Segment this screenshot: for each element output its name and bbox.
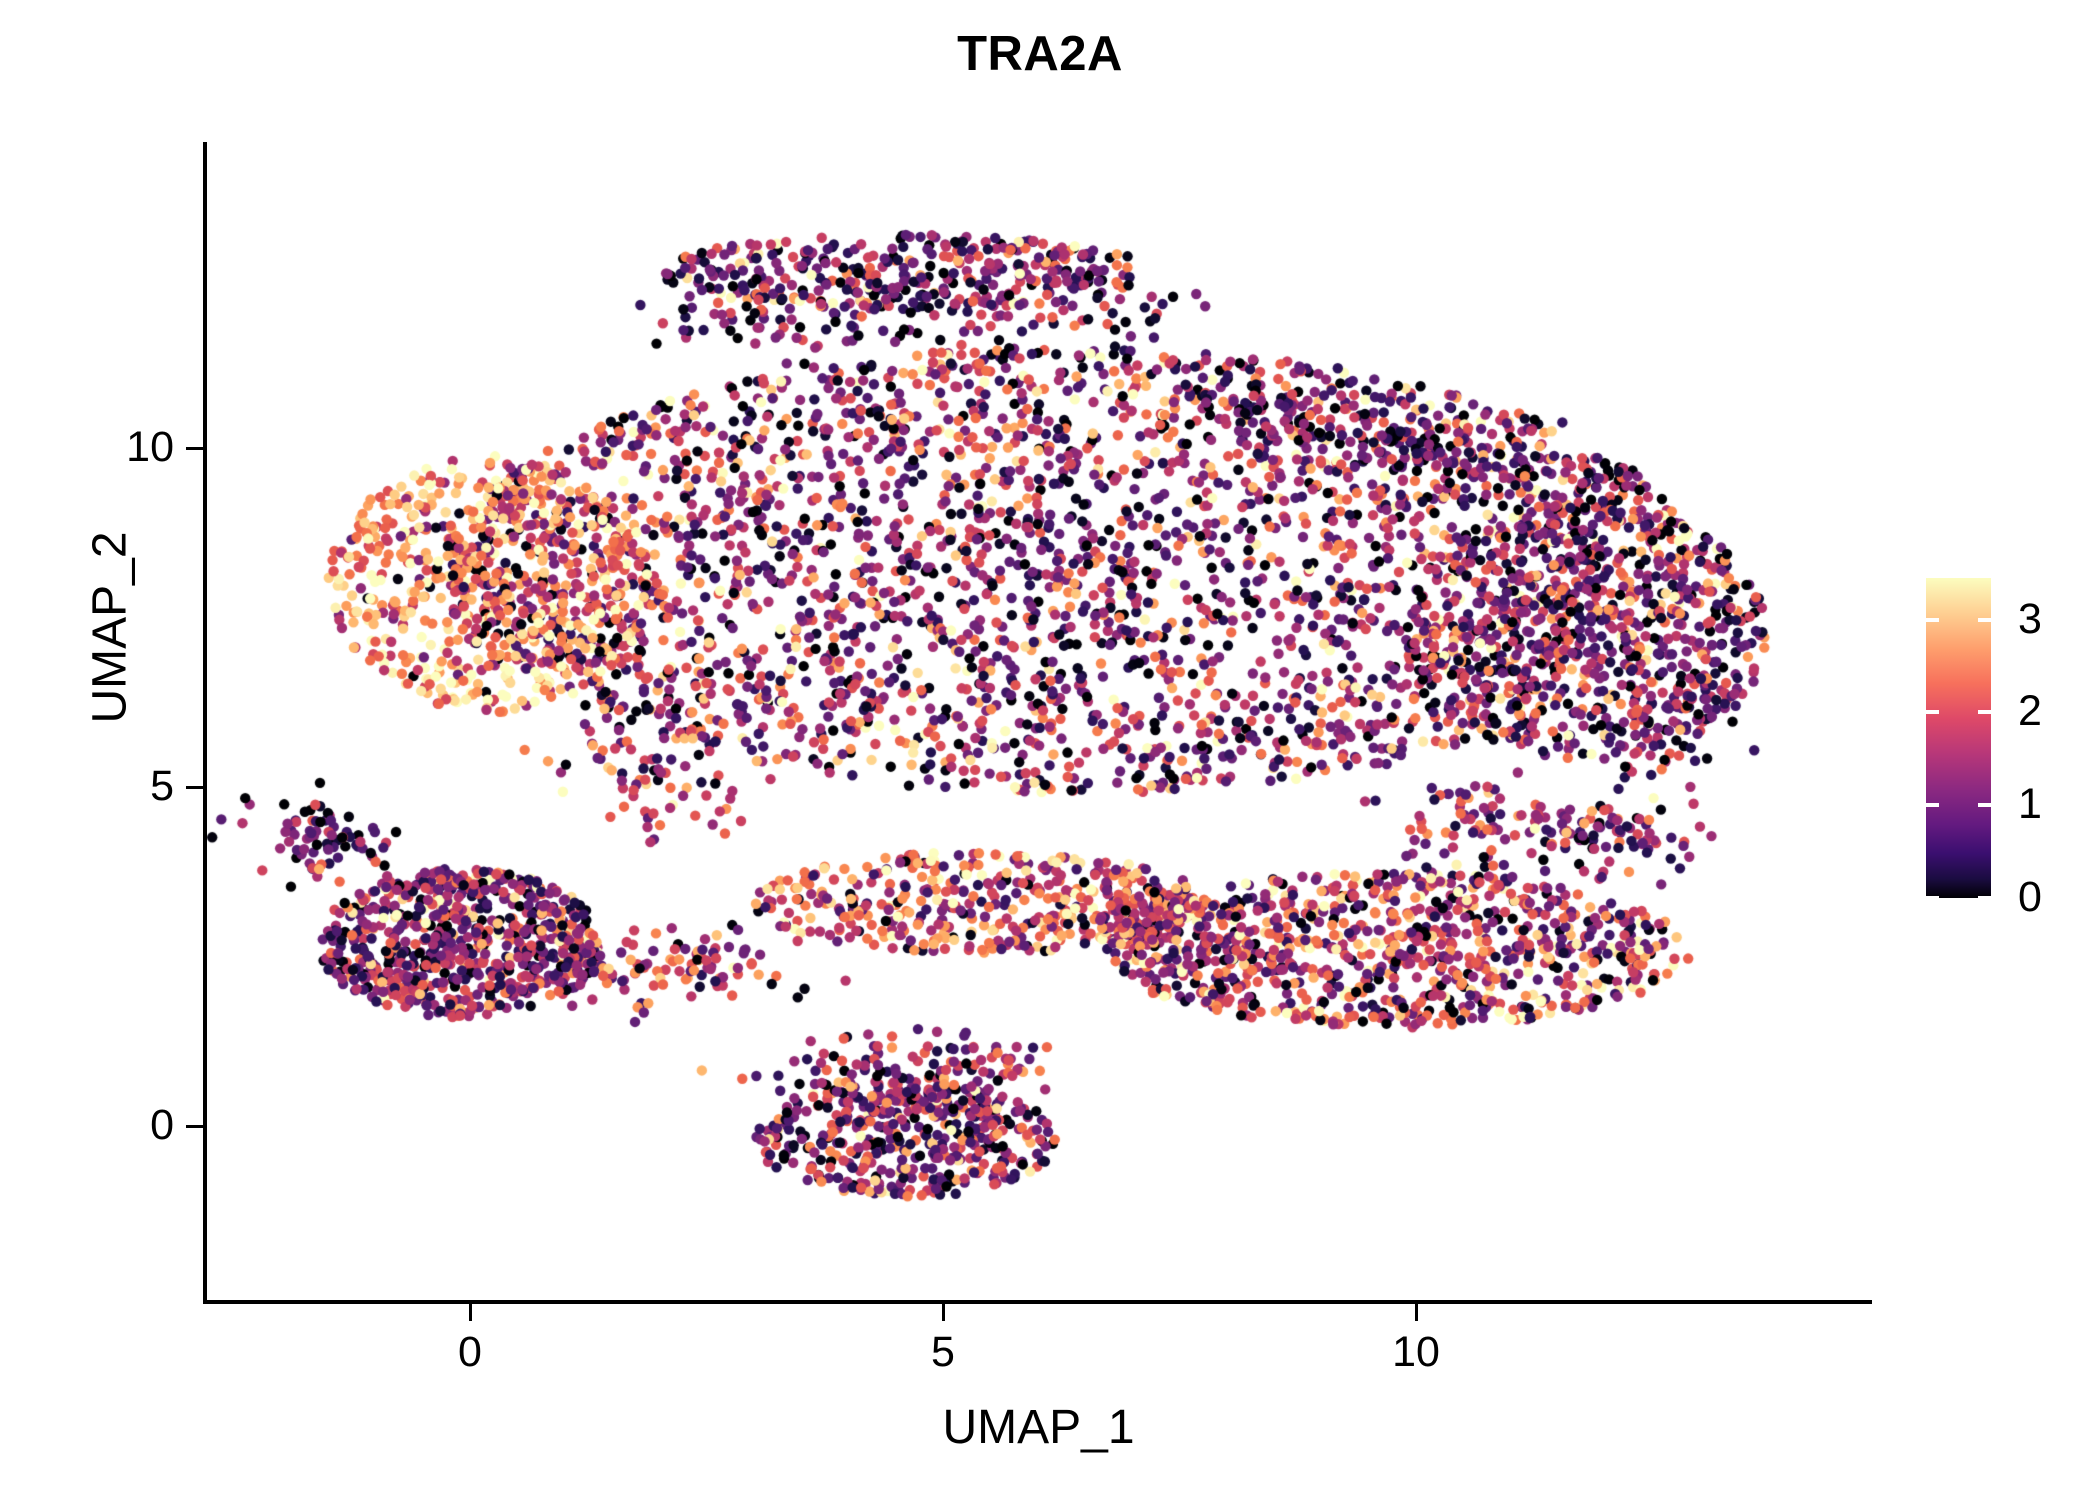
x-tick-label: 0	[390, 1331, 550, 1374]
y-tick-mark	[186, 1125, 203, 1128]
colorbar-gradient	[1926, 578, 1991, 898]
y-tick-mark	[186, 447, 203, 450]
colorbar-tick-mark	[1978, 710, 1991, 714]
colorbar-tick-mark	[1926, 710, 1939, 714]
x-tick-label: 10	[1336, 1331, 1496, 1374]
scatter-plot-panel[interactable]	[205, 142, 1872, 1302]
y-tick-mark	[186, 786, 203, 789]
y-axis-line	[203, 142, 207, 1304]
colorbar-tick-mark	[1978, 803, 1991, 807]
y-axis-title: UMAP_2	[83, 478, 138, 778]
colorbar-tick-mark	[1978, 896, 1991, 900]
y-tick-label: 10	[126, 426, 174, 469]
colorbar-tick-mark	[1978, 618, 1991, 622]
figure-root: TRA2A 0510 0510 UMAP_2 UMAP_1 3210	[0, 0, 2100, 1500]
colorbar-tick-label: 1	[2018, 783, 2042, 826]
x-axis-line	[205, 1300, 1872, 1304]
colorbar-tick-mark	[1926, 803, 1939, 807]
scatter-points-layer	[205, 142, 1872, 1302]
y-tick-label: 5	[150, 765, 174, 808]
colorbar-tick-label: 3	[2018, 598, 2042, 641]
y-tick-label: 0	[150, 1104, 174, 1147]
colorbar-tick-label: 0	[2018, 876, 2042, 919]
colorbar-tick-label: 2	[2018, 690, 2042, 733]
x-tick-mark	[469, 1304, 472, 1321]
colorbar-tick-mark	[1926, 896, 1939, 900]
x-axis-title: UMAP_1	[205, 1400, 1872, 1455]
x-tick-mark	[1415, 1304, 1418, 1321]
page-title: TRA2A	[0, 26, 2080, 82]
colorbar-tick-mark	[1926, 618, 1939, 622]
x-tick-mark	[942, 1304, 945, 1321]
colorbar-legend[interactable]: 3210	[1926, 578, 2096, 900]
x-tick-label: 5	[863, 1331, 1023, 1374]
